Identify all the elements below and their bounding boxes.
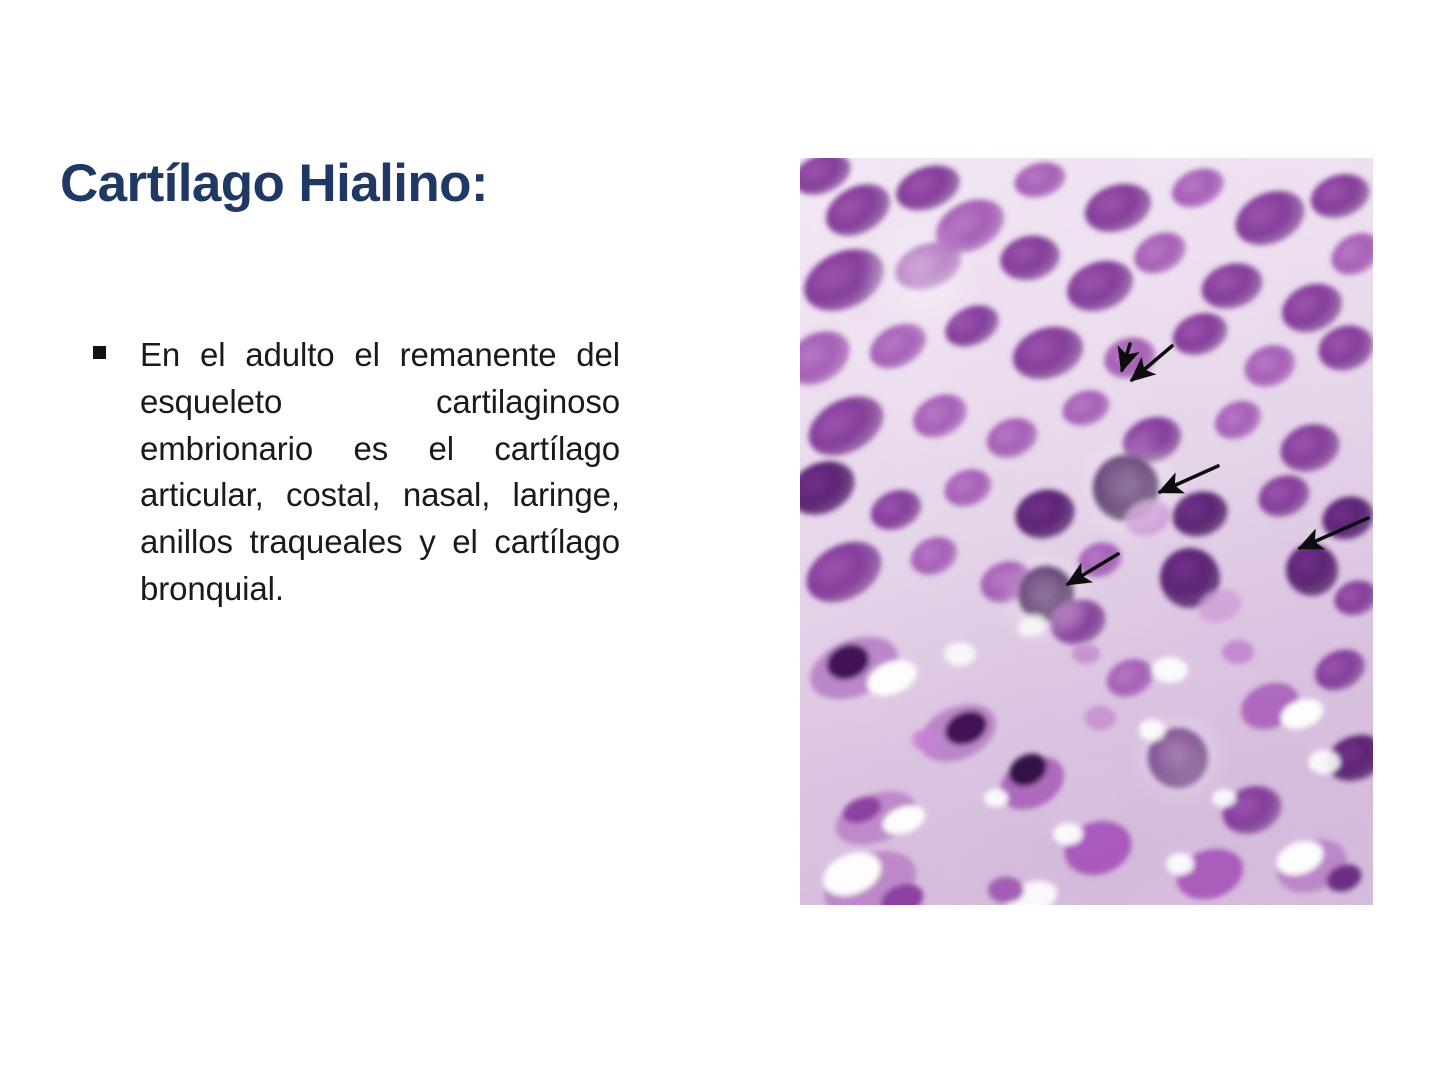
micrograph-image	[800, 158, 1373, 905]
hyaline-cartilage-micrograph	[800, 158, 1373, 905]
page-title: Cartílago Hialino:	[60, 155, 488, 213]
square-bullet-icon	[93, 346, 106, 359]
content-body: En el adulto el remanente del esqueleto …	[88, 332, 620, 660]
slide-canvas: Cartílago Hialino: En el adulto el reman…	[0, 0, 1440, 1080]
list-item: En el adulto el remanente del esqueleto …	[88, 332, 620, 660]
bullet-item-label: En el adulto el remanente del esqueleto …	[140, 332, 620, 660]
